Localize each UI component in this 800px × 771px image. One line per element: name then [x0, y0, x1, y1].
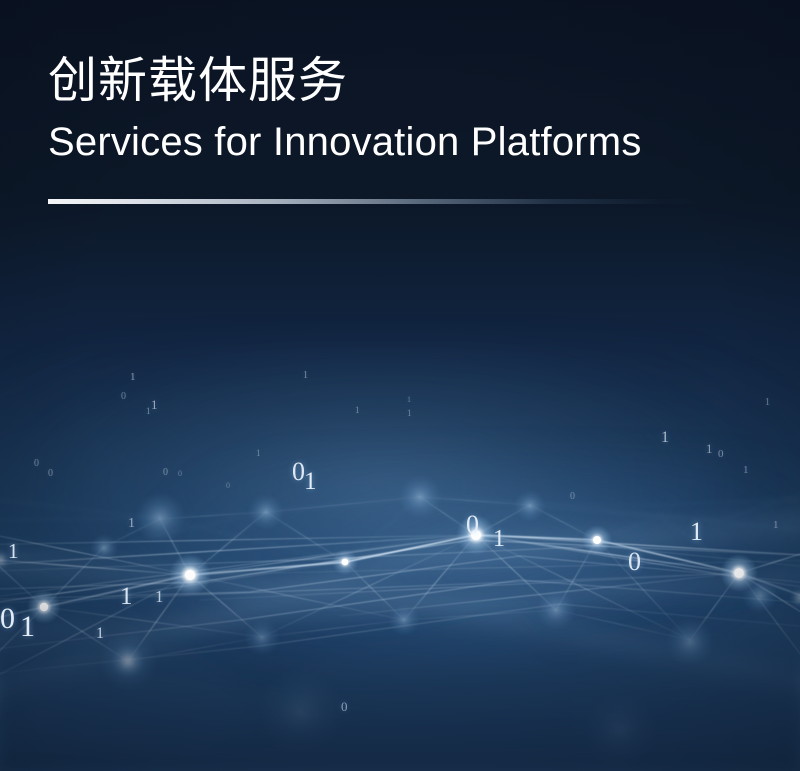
foreground-haze — [0, 601, 800, 771]
page-title-cn: 创新载体服务 — [48, 54, 768, 109]
page-title-en: Services for Innovation Platforms — [48, 119, 768, 165]
gradient-rule — [48, 199, 710, 204]
innovation-platforms-banner: 10111111000111001011110101110110100 创新载体… — [0, 0, 800, 771]
banner-header: 创新载体服务 Services for Innovation Platforms — [48, 54, 768, 165]
